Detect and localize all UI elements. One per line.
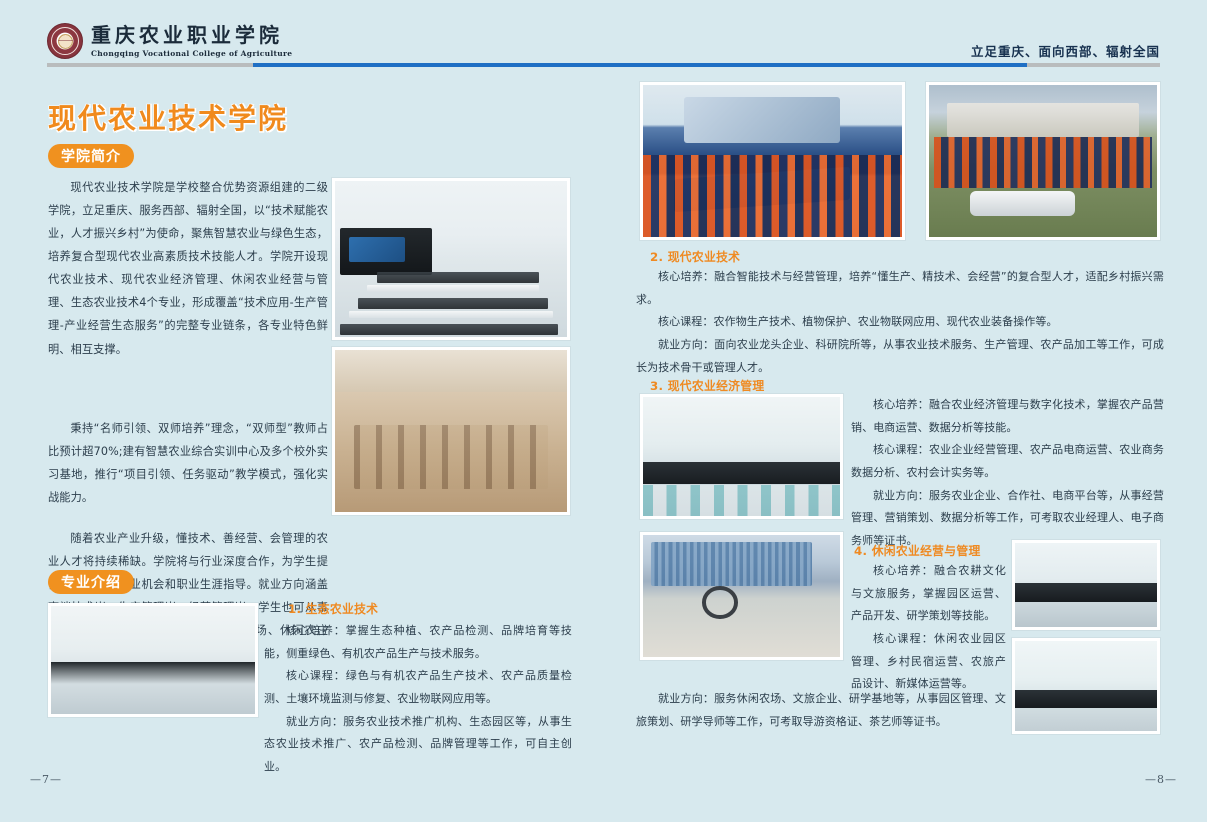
- intro-paragraph-1-wrap: 现代农业技术学院是学校整合优势资源组建的二级学院，立足重庆、服务西部、辐射全国，…: [48, 176, 328, 361]
- left-page: 现代农业技术学院 学院简介 现代农业技术学院是学校整合优势资源组建的二级学院，立…: [0, 72, 604, 822]
- photo-drone-classroom: [640, 82, 905, 240]
- college-logo: 重庆农业职业学院 Chongqing Vocational College of…: [47, 23, 292, 59]
- major-1-line-1: 核心培养：掌握生态种植、农产品检测、品牌培育等技能，侧重绿色、有机农产品生产与技…: [264, 620, 572, 665]
- college-crest-icon: [47, 23, 83, 59]
- major-4-lines-bottom: 就业方向：服务休闲农场、文旅企业、研学基地等，从事园区管理、文旅策划、研学导师等…: [636, 688, 1006, 733]
- college-name-en: Chongqing Vocational College of Agricult…: [91, 50, 292, 58]
- major-4-line-3: 就业方向：服务休闲农场、文旅企业、研学基地等，从事园区管理、文旅策划、研学导师等…: [636, 688, 1006, 733]
- page-title: 现代农业技术学院: [48, 97, 288, 137]
- photo-live-streaming-practice: [640, 532, 843, 660]
- photo-ecommerce-lab: [640, 394, 843, 519]
- intro-paragraph-2-wrap: 秉持“名师引领、双师培养”理念，“双师型”教师占比预计超70%;建有智慧农业综合…: [48, 417, 328, 509]
- major-1-title: 1. 生态农业技术: [288, 600, 572, 617]
- major-4-title: 4. 休闲农业经营与管理: [854, 542, 1014, 559]
- major-1-block: 1. 生态农业技术: [288, 600, 572, 617]
- intro-paragraph-2: 秉持“名师引领、双师培养”理念，“双师型”教师占比预计超70%;建有智慧农业综合…: [48, 417, 328, 509]
- college-name-block: 重庆农业职业学院 Chongqing Vocational College of…: [91, 25, 292, 58]
- major-2-line-2: 核心课程：农作物生产技术、植物保护、农业物联网应用、现代农业装备操作等。: [636, 311, 1164, 334]
- intro-paragraph-1: 现代农业技术学院是学校整合优势资源组建的二级学院，立足重庆、服务西部、辐射全国，…: [48, 176, 328, 361]
- major-1-line-2: 核心课程：绿色与有机农产品生产技术、农产品质量检测、土壤环境监测与修复、农业物联…: [264, 665, 572, 710]
- major-2-line-3: 就业方向：面向农业龙头企业、科研院所等，从事农业技术服务、生产管理、农产品加工等…: [636, 334, 1164, 379]
- major-1-lines: 核心培养：掌握生态种植、农产品检测、品牌培育等技能，侧重绿色、有机农产品生产与技…: [264, 620, 572, 779]
- major-1-line-3: 就业方向：服务农业技术推广机构、生态园区等，从事生态农业技术推广、农产品检测、品…: [264, 711, 572, 779]
- photo-agri-economics-classroom: [332, 178, 570, 340]
- major-3-lines: 核心培养：融合农业经济管理与数字化技术，掌握农产品营销、电商运营、数据分析等技能…: [851, 394, 1164, 553]
- major-2-line-1: 核心培养：融合智能技术与经营管理，培养“懂生产、精技术、会经营”的复合型人才，适…: [636, 266, 1164, 311]
- major-3-line-1: 核心培养：融合农业经济管理与数字化技术，掌握农产品营销、电商运营、数据分析等技能…: [851, 394, 1164, 439]
- header-divider-rule: [47, 63, 1160, 67]
- major-3-block: 3. 现代农业经济管理: [650, 377, 1160, 394]
- major-2-lines: 核心培养：融合智能技术与经营管理，培养“懂生产、精技术、会经营”的复合型人才，适…: [636, 266, 1164, 379]
- section-label-majors: 专业介绍: [48, 570, 134, 594]
- page-number-right: —8—: [1145, 773, 1177, 786]
- photo-microscope-lab: [48, 603, 258, 717]
- brochure-spread: 重庆农业职业学院 Chongqing Vocational College of…: [0, 0, 1207, 822]
- page-header: 重庆农业职业学院 Chongqing Vocational College of…: [0, 0, 1207, 72]
- major-4-lines-top: 核心培养：融合农耕文化与文旅服务，掌握园区运营、产品开发、研学策划等技能。 核心…: [851, 560, 1006, 696]
- right-page: 2. 现代农业技术 核心培养：融合智能技术与经营管理，培养“懂生产、精技术、会经…: [604, 72, 1207, 822]
- major-3-line-2: 核心课程：农业企业经营管理、农产品电商运营、农业商务数据分析、农村会计实务等。: [851, 439, 1164, 484]
- photo-tea-culture-library: [332, 347, 570, 515]
- header-divider-accent: [253, 63, 1027, 67]
- major-2-block: 2. 现代农业技术: [650, 248, 1160, 265]
- photo-computer-lab-a: [1012, 540, 1160, 630]
- major-3-title: 3. 现代农业经济管理: [650, 377, 1160, 394]
- photo-computer-lab-b: [1012, 638, 1160, 734]
- major-2-title: 2. 现代农业技术: [650, 248, 1160, 265]
- major-4-line-2: 核心课程：休闲农业园区管理、乡村民宿运营、农旅产品设计、新媒体运营等。: [851, 628, 1006, 696]
- photo-drone-field-training: [926, 82, 1160, 240]
- page-number-left: —7—: [30, 773, 62, 786]
- major-4-block: 4. 休闲农业经营与管理: [854, 542, 1014, 559]
- section-label-intro: 学院简介: [48, 144, 134, 168]
- header-motto: 立足重庆、面向西部、辐射全国: [971, 41, 1160, 60]
- major-4-line-1: 核心培养：融合农耕文化与文旅服务，掌握园区运营、产品开发、研学策划等技能。: [851, 560, 1006, 628]
- college-name-cn: 重庆农业职业学院: [91, 25, 292, 45]
